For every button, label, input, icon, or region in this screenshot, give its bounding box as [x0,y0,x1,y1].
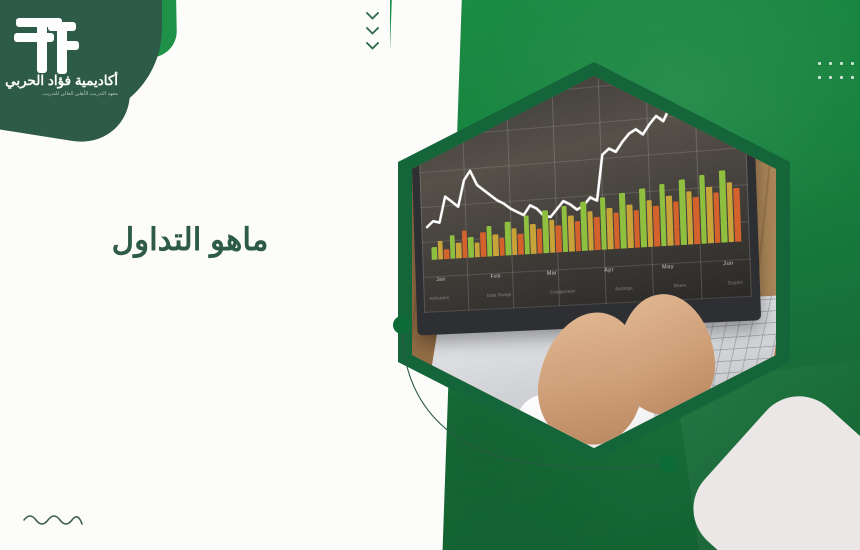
chevron-down-icon [366,42,379,50]
volume-bar [568,216,575,252]
volume-bar [549,220,556,253]
volume-bar [499,238,505,256]
volume-bar [699,175,707,244]
academy-name: أكاديمية فؤاد الحربي [0,74,118,89]
volume-bar [659,184,667,246]
volume-bar [626,204,633,248]
volume-bar [556,225,562,252]
volume-bar [542,210,549,253]
chart-toolbar-label: Share [673,283,686,289]
chart-month-label: Mar [547,270,558,277]
volume-bar [505,221,511,255]
volume-bar [594,216,601,250]
academy-logo-icon [14,18,76,74]
volume-bar [666,195,673,245]
academy-logo-text: أكاديمية فؤاد الحربي معهد التدريب الأهلي… [0,74,122,98]
volume-bar [561,206,568,252]
volume-bar [449,235,455,259]
volume-bar [486,226,492,257]
page-title: ماهو التداول [60,222,320,258]
chart-toolbar-label: Export [728,280,743,286]
chart-month-label: Jan [436,277,446,283]
volume-bar [575,221,581,251]
volume-bar [480,232,486,257]
dot-grid-decoration [818,62,860,90]
chevron-decoration-group [366,12,388,57]
volume-bar [600,197,607,250]
wave-squiggle-icon [22,512,84,528]
chevron-down-icon [366,27,379,35]
volume-bar [619,193,627,249]
volume-bar [456,242,462,258]
volume-bar [523,216,530,255]
chart-toolbar-label: Indicators [429,295,449,301]
volume-bar [693,197,700,245]
volume-bar [493,234,499,256]
volume-bar [431,247,437,260]
chart-month-label: Apr [604,267,614,274]
chart-month-label: Feb [490,274,500,280]
volume-bar [530,224,536,254]
volume-bar [653,205,660,246]
academy-tagline: معهد التدريب الأهلي العالي للتدريب [0,91,118,98]
volume-bar [518,234,524,255]
chart-toolbar-label: Settings [615,285,633,291]
volume-bar [719,170,727,242]
chart-month-label: May [662,264,674,271]
chevron-down-icon [366,12,379,20]
volume-bar [511,228,517,255]
volume-bar [474,242,480,257]
volume-bar [537,229,543,254]
volume-bar [468,237,474,258]
promo-banner: أكاديمية فؤاد الحربي معهد التدريب الأهلي… [0,0,860,550]
chart-month-label: Jun [723,260,734,267]
volume-bar [444,249,450,259]
volume-bar [581,201,588,251]
volume-bar [461,230,467,258]
volume-bar [679,179,687,245]
volume-bar [639,188,647,247]
volume-bar [437,240,443,259]
